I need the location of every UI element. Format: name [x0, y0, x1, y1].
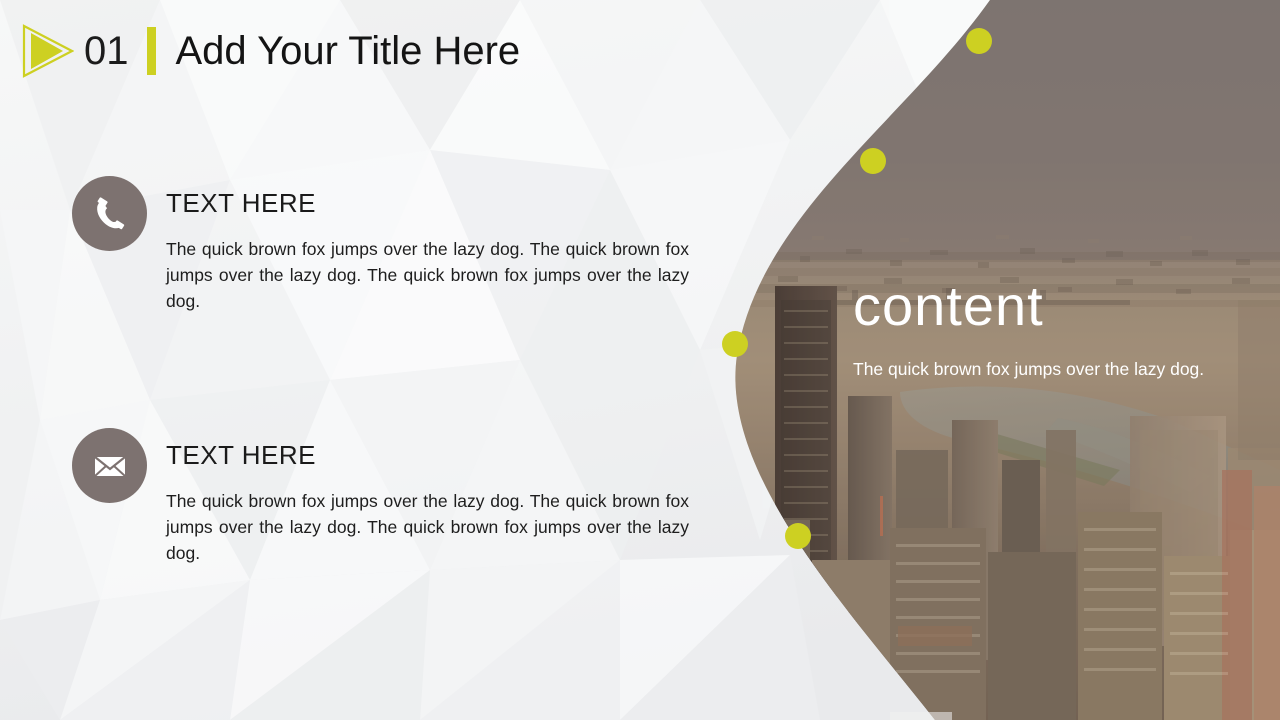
content-block: content The quick brown fox jumps over t…	[853, 278, 1225, 382]
feature-description: The quick brown fox jumps over the lazy …	[166, 236, 689, 314]
content-heading: content	[853, 278, 1225, 334]
feature-heading: TEXT HERE	[166, 176, 612, 216]
presentation-slide: 01 Add Your Title Here TEXT HERE The qui…	[0, 0, 1280, 720]
slide-header: 01 Add Your Title Here	[18, 22, 520, 80]
feature-heading: TEXT HERE	[166, 428, 612, 468]
accent-dot-4	[785, 523, 811, 549]
phone-icon-circle	[72, 176, 147, 251]
content-description: The quick brown fox jumps over the lazy …	[853, 356, 1216, 382]
feature-block-email: TEXT HERE The quick brown fox jumps over…	[72, 428, 612, 566]
envelope-icon-circle	[72, 428, 147, 503]
page-title: Add Your Title Here	[176, 30, 521, 72]
feature-body: TEXT HERE The quick brown fox jumps over…	[166, 428, 612, 566]
feature-block-phone: TEXT HERE The quick brown fox jumps over…	[72, 176, 612, 314]
accent-dot-2	[860, 148, 886, 174]
bottom-edge-chip	[890, 712, 952, 720]
accent-dot-1	[966, 28, 992, 54]
slide-number: 01	[84, 31, 129, 71]
feature-body: TEXT HERE The quick brown fox jumps over…	[166, 176, 612, 314]
title-accent-bar	[147, 27, 156, 75]
envelope-icon	[90, 446, 130, 486]
play-triangle-icon	[18, 22, 74, 80]
phone-icon	[90, 194, 130, 234]
feature-description: The quick brown fox jumps over the lazy …	[166, 488, 689, 566]
accent-dot-3	[722, 331, 748, 357]
